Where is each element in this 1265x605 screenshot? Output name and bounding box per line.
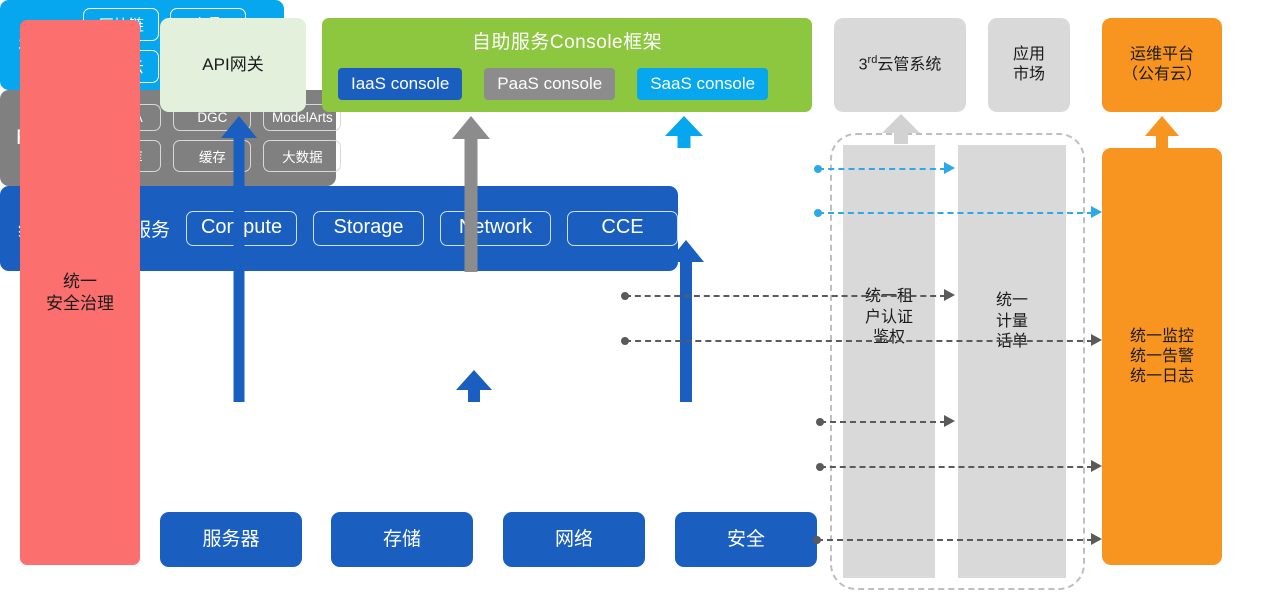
connector-arrowhead-saas-1: [944, 162, 955, 174]
ops-platform-line2: （公有云）: [1122, 65, 1202, 85]
tenant-auth-label: 统一租 户认证 鉴权: [843, 278, 935, 358]
tenant-auth-column[interactable]: [843, 145, 935, 578]
metering-line3: 话单: [996, 332, 1028, 353]
paas-console-chip[interactable]: PaaS console: [484, 68, 615, 100]
metering-line1: 统一: [996, 291, 1028, 312]
hardware-label-storage: 存储: [383, 528, 421, 552]
tenant-auth-line2: 户认证: [865, 308, 913, 329]
infra-item-cce[interactable]: CCE: [567, 211, 678, 246]
app-market-box[interactable]: 应用 市场: [988, 18, 1070, 112]
unified-ops-pillar[interactable]: 统一监控 统一告警 统一日志: [1102, 148, 1222, 565]
connector-infra-to-auth: [820, 421, 946, 423]
third-party-label: 3rd云管系统: [859, 54, 942, 75]
console-frame-title: 自助服务Console框架: [336, 27, 798, 55]
ops-pillar-line3: 统一日志: [1130, 367, 1194, 387]
hardware-box-storage[interactable]: 存储: [331, 512, 473, 567]
app-market-line2: 市场: [1013, 65, 1045, 85]
arrow-ops-pillar-to-platform: [1145, 116, 1179, 148]
ops-pillar-line1: 统一监控: [1130, 327, 1194, 347]
connector-arrowhead-infra-1: [944, 415, 955, 427]
security-governance-pillar[interactable]: 统一 安全治理: [20, 20, 140, 565]
connector-infra-to-ops: [820, 466, 1093, 468]
connector-arrowhead-paas-2: [1091, 334, 1102, 346]
console-chip-row: IaaS console PaaS console SaaS console: [336, 68, 798, 100]
arrow-saas-to-console: [665, 116, 703, 148]
security-pillar-line1: 统一: [63, 271, 97, 292]
hardware-label-network: 网络: [555, 528, 593, 552]
app-market-line1: 应用: [1013, 45, 1045, 65]
hardware-box-network[interactable]: 网络: [503, 512, 645, 567]
ops-pillar-line2: 统一告警: [1130, 347, 1194, 367]
architecture-diagram: 统一 安全治理 API网关 自助服务Console框架 IaaS console…: [0, 0, 1265, 605]
ops-platform-public-cloud-box[interactable]: 运维平台 （公有云）: [1102, 18, 1222, 112]
tenant-auth-line3: 鉴权: [873, 328, 905, 349]
arrow-zone-to-third-party: [882, 114, 920, 144]
metering-line2: 计量: [996, 312, 1028, 333]
infra-item-storage[interactable]: Storage: [313, 211, 424, 246]
metering-billing-label: 统一 计量 话单: [958, 282, 1066, 362]
connector-arrowhead-paas-1: [944, 289, 955, 301]
tenant-auth-line1: 统一租: [865, 287, 913, 308]
connector-saas-to-auth: [818, 168, 946, 170]
self-service-console-frame[interactable]: 自助服务Console框架 IaaS console PaaS console …: [322, 18, 812, 112]
hardware-box-server[interactable]: 服务器: [160, 512, 302, 567]
saas-console-chip[interactable]: SaaS console: [637, 68, 768, 100]
hardware-label-server: 服务器: [202, 528, 259, 552]
connector-arrowhead-saas-2: [1091, 206, 1102, 218]
api-gateway-box[interactable]: API网关: [160, 18, 306, 112]
arrow-paas-to-console: [452, 116, 490, 272]
arrow-infra-to-saas: [668, 240, 704, 402]
arrow-infra-to-paas: [456, 370, 492, 402]
hardware-box-security[interactable]: 安全: [675, 512, 817, 567]
connector-arrowhead-hardware: [1091, 533, 1102, 545]
ops-platform-line1: 运维平台: [1130, 45, 1194, 65]
api-gateway-label: API网关: [202, 54, 263, 75]
paas-item-bigdata[interactable]: 大数据: [263, 140, 341, 172]
connector-hardware-to-ops: [817, 539, 1093, 541]
connector-paas-to-ops: [625, 340, 1093, 342]
connector-saas-to-ops: [818, 212, 1093, 214]
third-party-cloud-mgmt-box[interactable]: 3rd云管系统: [834, 18, 966, 112]
connector-arrowhead-infra-2: [1091, 460, 1102, 472]
security-pillar-line2: 安全治理: [46, 293, 114, 314]
iaas-console-chip[interactable]: IaaS console: [338, 68, 462, 100]
hardware-label-security: 安全: [727, 528, 765, 552]
connector-paas-to-auth: [625, 295, 946, 297]
arrow-infra-to-api-gateway: [221, 116, 257, 402]
